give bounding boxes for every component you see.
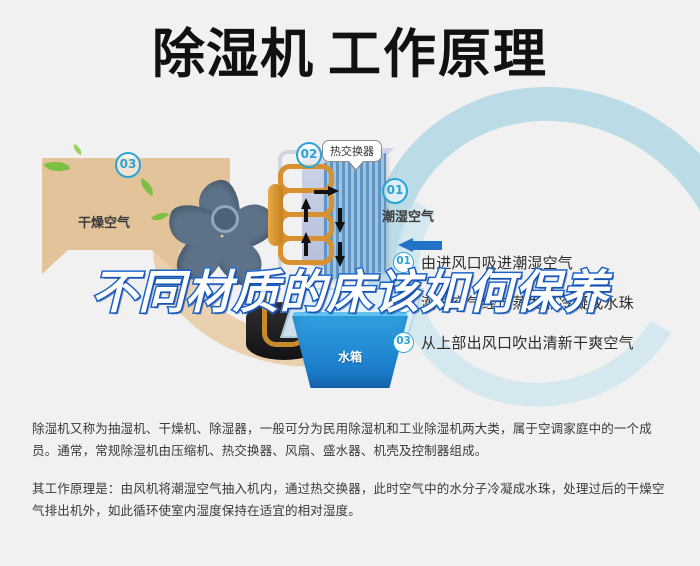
list-item: 01 由进风口吸进潮湿空气 — [393, 252, 693, 273]
step-number: 03 — [393, 332, 414, 353]
body-copy: 除湿机又称为抽湿机、干燥机、除湿器，一般可分为民用除湿机和工业除湿机两大类，属于… — [32, 418, 672, 522]
flow-arrow-down-icon — [335, 222, 345, 233]
page-title: 除湿机工作原理 — [0, 24, 700, 86]
title-part-1: 除湿机 — [152, 24, 314, 85]
humid-air-label: 潮湿空气 — [382, 206, 434, 225]
infographic-page: 除湿机工作原理 — [0, 0, 700, 566]
water-tank-label: 水箱 — [292, 348, 408, 365]
dry-air-label: 干燥空气 — [78, 212, 130, 231]
heat-exchanger-callout: 热交换器 — [322, 140, 382, 162]
list-item: 03 从上部出风口吹出清新干爽空气 — [393, 332, 693, 353]
paragraph-2: 其工作原理是：由风机将潮湿空气抽入机内，通过热交换器，此时空气中的水分子冷凝成水… — [32, 478, 672, 522]
leaf-icon — [71, 144, 84, 155]
flow-arrow-right-icon — [328, 186, 339, 196]
step-text: 由进风口吸进潮湿空气 — [421, 252, 573, 273]
step-number: 02 — [393, 292, 414, 313]
fan-icon — [168, 162, 276, 270]
list-item: 02 潮湿空气经过蒸发器冷凝成水珠 — [393, 292, 693, 313]
step-text: 潮湿空气经过蒸发器冷凝成水珠 — [421, 292, 634, 313]
badge-dry-air: 03 — [115, 152, 141, 178]
step-text: 从上部出风口吹出清新干爽空气 — [421, 332, 634, 353]
receiver-cylinder — [268, 184, 283, 246]
badge-heat-exchanger: 02 — [296, 142, 322, 168]
paragraph-1: 除湿机又称为抽湿机、干燥机、除湿器，一般可分为民用除湿机和工业除湿机两大类，属于… — [32, 418, 672, 462]
air-intake-arrow-icon — [398, 238, 442, 252]
badge-humid-air: 01 — [382, 178, 408, 204]
steps-list: 01 由进风口吸进潮湿空气 02 潮湿空气经过蒸发器冷凝成水珠 03 从上部出风… — [393, 252, 693, 372]
title-part-2: 工作原理 — [328, 24, 548, 85]
step-number: 01 — [393, 252, 414, 273]
flow-arrow-up-icon — [301, 198, 311, 209]
flow-arrow-up-icon — [301, 232, 311, 243]
flow-arrow-down-icon — [335, 256, 345, 267]
